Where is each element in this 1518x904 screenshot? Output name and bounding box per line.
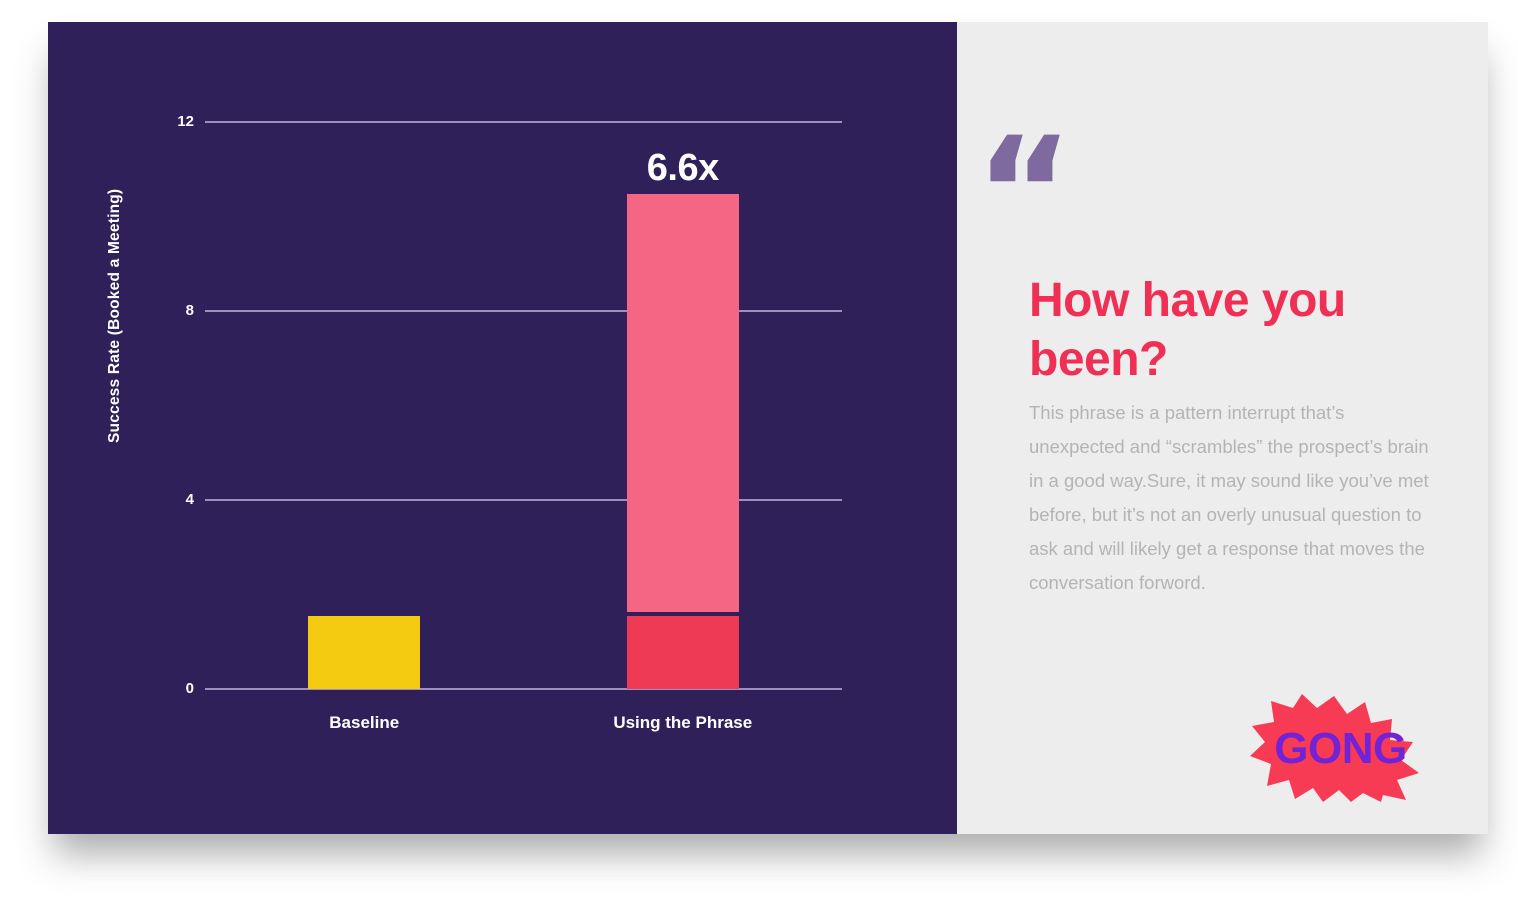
x-tick-label: Baseline	[329, 713, 399, 733]
text-panel: “ How have you been? This phrase is a pa…	[957, 22, 1488, 834]
y-tick-label: 12	[177, 112, 194, 132]
gong-wordmark: GONG	[1247, 694, 1422, 804]
gridline	[205, 121, 842, 123]
x-axis-labels: BaselineUsing the Phrase	[205, 689, 842, 739]
gong-logo: GONG	[1247, 694, 1422, 804]
slide-card: Success Rate (Booked a Meeting) 04812 6.…	[48, 22, 1488, 834]
chart-panel: Success Rate (Booked a Meeting) 04812 6.…	[48, 22, 957, 834]
page-title: How have you been?	[1029, 272, 1449, 389]
gridline	[205, 499, 842, 501]
plot-area: 04812 6.6x	[205, 122, 842, 689]
bar-value-label: 6.6x	[647, 147, 719, 190]
y-axis-title: Success Rate (Booked a Meeting)	[106, 203, 124, 443]
gridline	[205, 310, 842, 312]
y-tick-label: 8	[186, 301, 194, 321]
bar	[308, 616, 420, 689]
quotation-mark-icon: “	[975, 118, 1074, 268]
bar-segment	[627, 616, 739, 689]
y-tick-label: 4	[186, 490, 194, 510]
bar-segment	[627, 194, 739, 612]
bar-segment	[308, 616, 420, 689]
x-tick-label: Using the Phrase	[613, 713, 752, 733]
y-tick-label: 0	[186, 679, 194, 699]
bar: 6.6x	[627, 198, 739, 689]
body-paragraph: This phrase is a pattern interrupt that’…	[1029, 396, 1437, 600]
